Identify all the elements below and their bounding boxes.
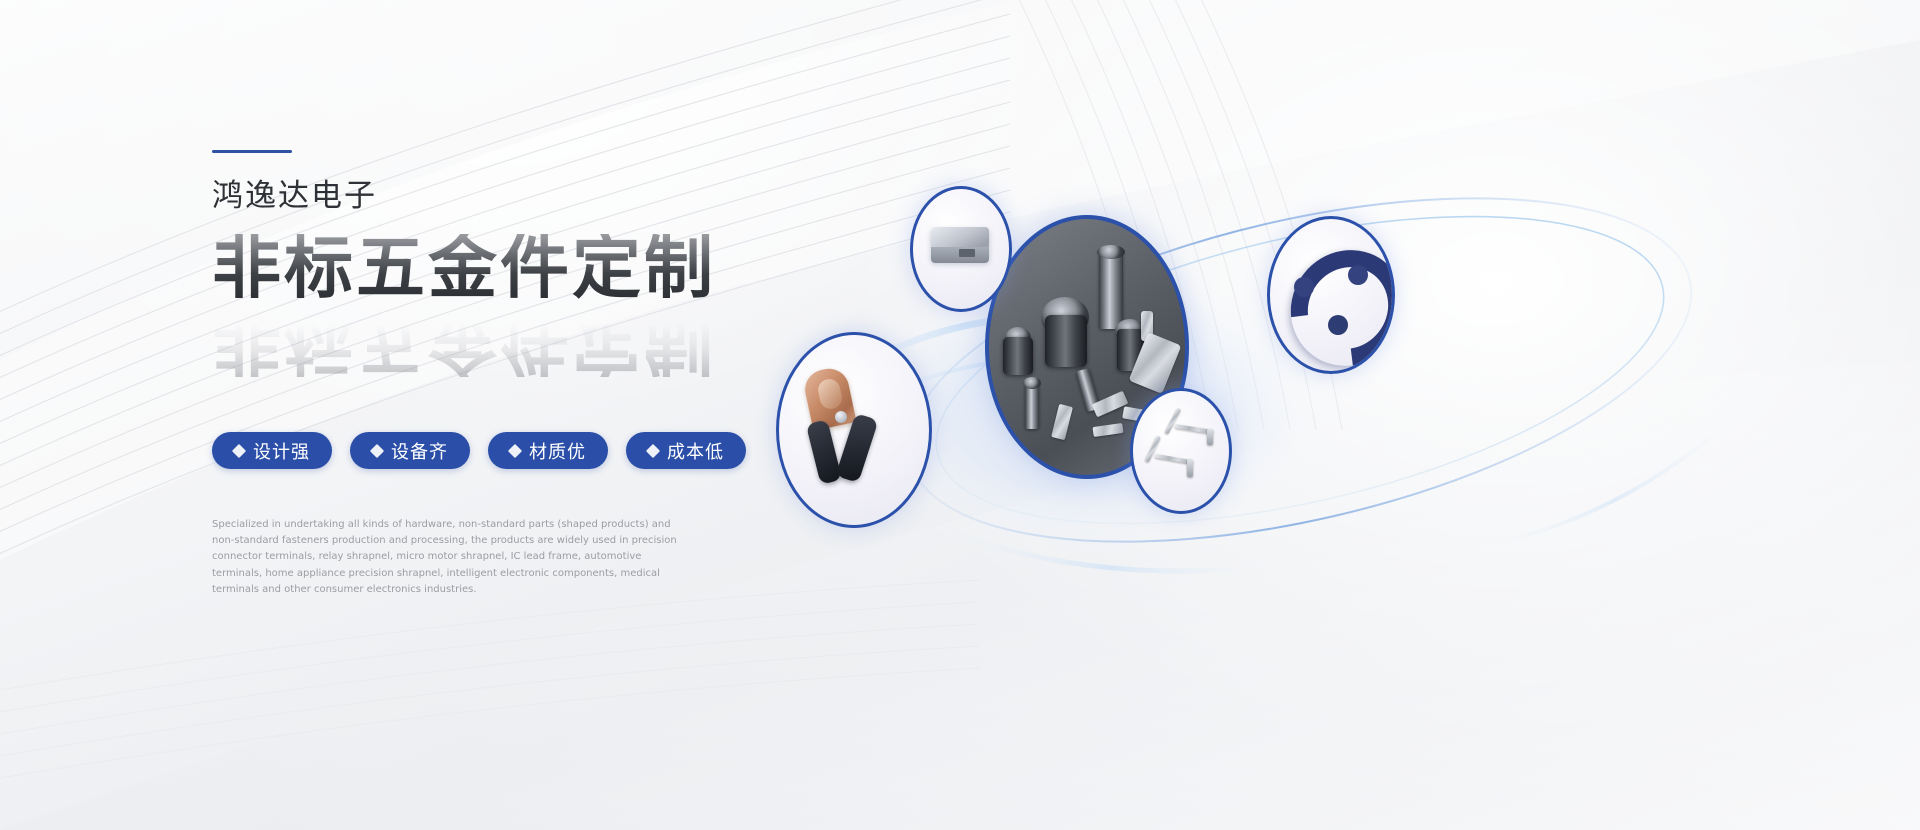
diamond-icon: [508, 443, 522, 457]
product-bubble-metal-enclosure[interactable]: [910, 186, 1012, 312]
feature-badge-equipment[interactable]: 设备齐: [350, 432, 470, 469]
orbit-rings-decoration: [760, 120, 1840, 640]
headline-reflection: 非标五金件定制: [212, 308, 716, 377]
product-showcase: [760, 120, 1840, 640]
product-bubble-wire-terminals[interactable]: [1130, 388, 1232, 514]
hero-banner: 鸿逸达电子 非标五金件定制 非标五金件定制 设计强 设备齐 材质优 成本低: [0, 0, 1920, 830]
product-bubble-battery-clamp[interactable]: [776, 332, 932, 528]
company-description: Specialized in undertaking all kinds of …: [212, 517, 682, 598]
feature-badge-cost[interactable]: 成本低: [626, 432, 746, 469]
feature-badge-label: 设计强: [253, 438, 310, 464]
headline-wrapper: 非标五金件定制 非标五金件定制: [212, 234, 852, 374]
product-bubble-retaining-ring[interactable]: [1267, 216, 1395, 374]
page-title: 非标五金件定制: [212, 234, 852, 303]
feature-badge-label: 材质优: [529, 438, 586, 464]
diamond-icon: [370, 443, 384, 457]
diamond-icon: [232, 443, 246, 457]
feature-badge-design[interactable]: 设计强: [212, 432, 332, 469]
accent-rule-divider: [212, 150, 292, 153]
feature-badge-label: 设备齐: [391, 438, 448, 464]
diamond-icon: [646, 443, 660, 457]
brand-name: 鸿逸达电子: [212, 181, 852, 212]
feature-badge-label: 成本低: [667, 438, 724, 464]
feature-badge-material[interactable]: 材质优: [488, 432, 608, 469]
feature-badge-list: 设计强 设备齐 材质优 成本低: [212, 432, 852, 469]
hero-text-column: 鸿逸达电子 非标五金件定制 非标五金件定制 设计强 设备齐 材质优 成本低: [212, 150, 852, 598]
